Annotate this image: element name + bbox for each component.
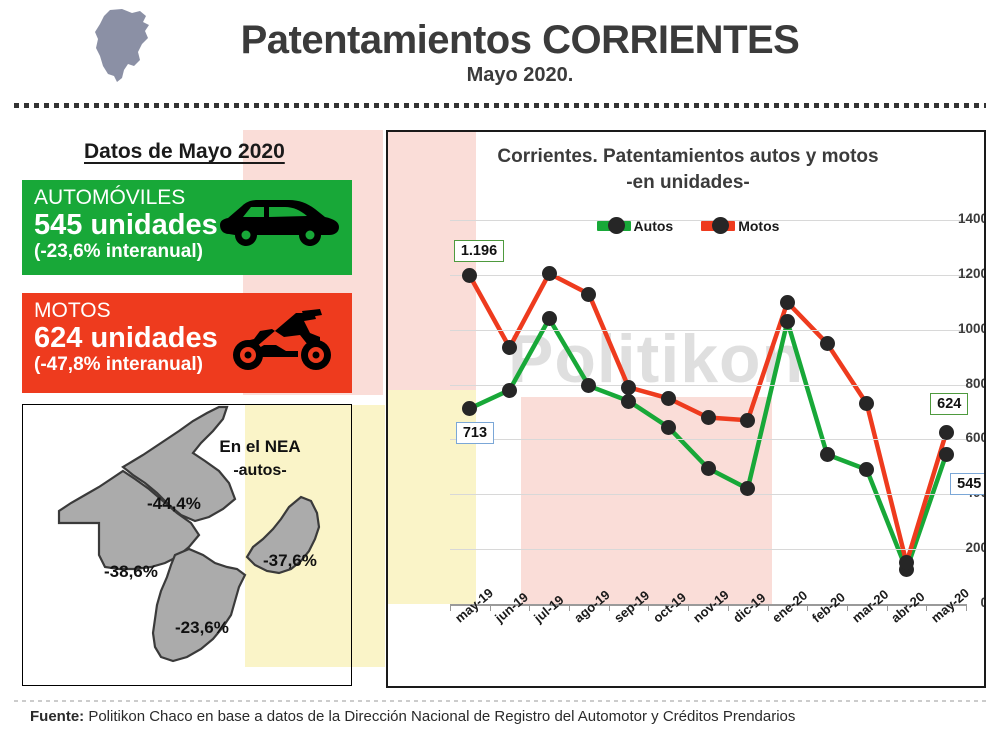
- x-tick-mark: [807, 604, 808, 611]
- gridline-800: [450, 385, 966, 386]
- stat-card-automoviles: AUTOMÓVILES 545 unidades (-23,6% interan…: [22, 180, 352, 275]
- data-point-autos-jun-19: [502, 383, 517, 398]
- stat-card-motos: MOTOS 624 unidades (-47,8% interanual): [22, 293, 352, 393]
- x-tick-mark: [569, 604, 570, 611]
- y-tick-label-200: 200: [936, 540, 986, 555]
- x-tick-mark: [609, 604, 610, 611]
- data-point-autos-sep-19: [621, 394, 636, 409]
- footer-source: Fuente: Politikon Chaco en base a datos …: [30, 708, 980, 725]
- x-tick-mark: [529, 604, 530, 611]
- value-callout-713: 713: [456, 422, 494, 444]
- legend-swatch-motos: [701, 221, 735, 231]
- nea-value-chaco: -38,6%: [104, 562, 158, 582]
- x-tick-mark: [688, 604, 689, 611]
- x-tick-mark: [768, 604, 769, 611]
- value-callout-1196: 1.196: [454, 240, 504, 262]
- data-point-autos-jul-19: [542, 311, 557, 326]
- gridline-1000: [450, 330, 966, 331]
- header-divider: [14, 103, 986, 108]
- infographic-page: Patentamientos CORRIENTES Mayo 2020. Dat…: [0, 0, 1000, 750]
- left-section-title: Datos de Mayo 2020: [84, 140, 314, 164]
- x-tick-mark: [648, 604, 649, 611]
- data-point-motos-dic-19: [740, 413, 755, 428]
- nea-title: En el NEA: [180, 437, 340, 457]
- data-point-motos-sep-19: [621, 380, 636, 395]
- footer-text: Politikon Chaco en base a datos de la Di…: [84, 708, 795, 725]
- legend-label-autos: Autos: [634, 218, 674, 234]
- page-title-part2: CORRIENTES: [542, 18, 799, 62]
- data-point-autos-oct-19: [661, 420, 676, 435]
- data-point-motos-jul-19: [542, 266, 557, 281]
- header: Patentamientos CORRIENTES Mayo 2020.: [0, 0, 1000, 100]
- corrientes-province-silhouette-icon: [88, 8, 160, 90]
- data-point-autos-nov-19: [701, 461, 716, 476]
- data-point-motos-ene-20: [780, 295, 795, 310]
- nea-value-formosa: -44,4%: [147, 494, 201, 514]
- chart-legend: AutosMotos: [388, 217, 986, 235]
- data-point-motos-nov-19: [701, 410, 716, 425]
- x-tick-mark: [966, 604, 967, 611]
- chart-panel: Politikon Corrientes. Patentamientos aut…: [386, 130, 986, 688]
- y-tick-label-1000: 1000: [936, 321, 986, 336]
- legend-label-motos: Motos: [738, 218, 779, 234]
- legend-swatch-autos: [597, 221, 631, 231]
- x-tick-mark: [728, 604, 729, 611]
- x-tick-mark: [450, 604, 451, 611]
- x-tick-mark: [887, 604, 888, 611]
- nea-value-corrientes: -23,6%: [175, 618, 229, 638]
- page-title: Patentamientos CORRIENTES: [190, 18, 850, 63]
- chart-plot-area: 0200400600800100012001400 may-19jun-19ju…: [388, 132, 986, 688]
- gridline-1200: [450, 275, 966, 276]
- y-tick-label-1200: 1200: [936, 266, 986, 281]
- x-tick-mark: [490, 604, 491, 611]
- value-callout-624: 624: [930, 393, 968, 415]
- nea-subtitle: -autos-: [180, 462, 340, 480]
- footer-label: Fuente:: [30, 708, 84, 725]
- gridline-400: [450, 494, 966, 495]
- legend-item-motos[interactable]: Motos: [701, 217, 779, 235]
- data-point-motos-may-20: [939, 425, 954, 440]
- x-tick-mark: [847, 604, 848, 611]
- gridline-600: [450, 439, 966, 440]
- gridline-200: [450, 549, 966, 550]
- x-tick-mark: [926, 604, 927, 611]
- y-tick-label-800: 800: [936, 376, 986, 391]
- data-point-motos-feb-20: [820, 336, 835, 351]
- data-point-motos-oct-19: [661, 391, 676, 406]
- page-subtitle: Mayo 2020.: [190, 64, 850, 87]
- value-callout-545: 545: [950, 473, 986, 495]
- motorcycle-icon: [224, 307, 342, 373]
- data-point-autos-ene-20: [780, 314, 795, 329]
- footer-divider: [14, 700, 986, 702]
- page-title-part1: Patentamientos: [241, 18, 532, 62]
- data-point-autos-may-20: [939, 447, 954, 462]
- data-point-motos-ago-19: [581, 287, 596, 302]
- legend-item-autos[interactable]: Autos: [597, 217, 674, 235]
- car-icon: [217, 194, 342, 254]
- nea-value-misiones: -37,6%: [263, 551, 317, 571]
- data-point-motos-jun-19: [502, 340, 517, 355]
- data-point-autos-feb-20: [820, 447, 835, 462]
